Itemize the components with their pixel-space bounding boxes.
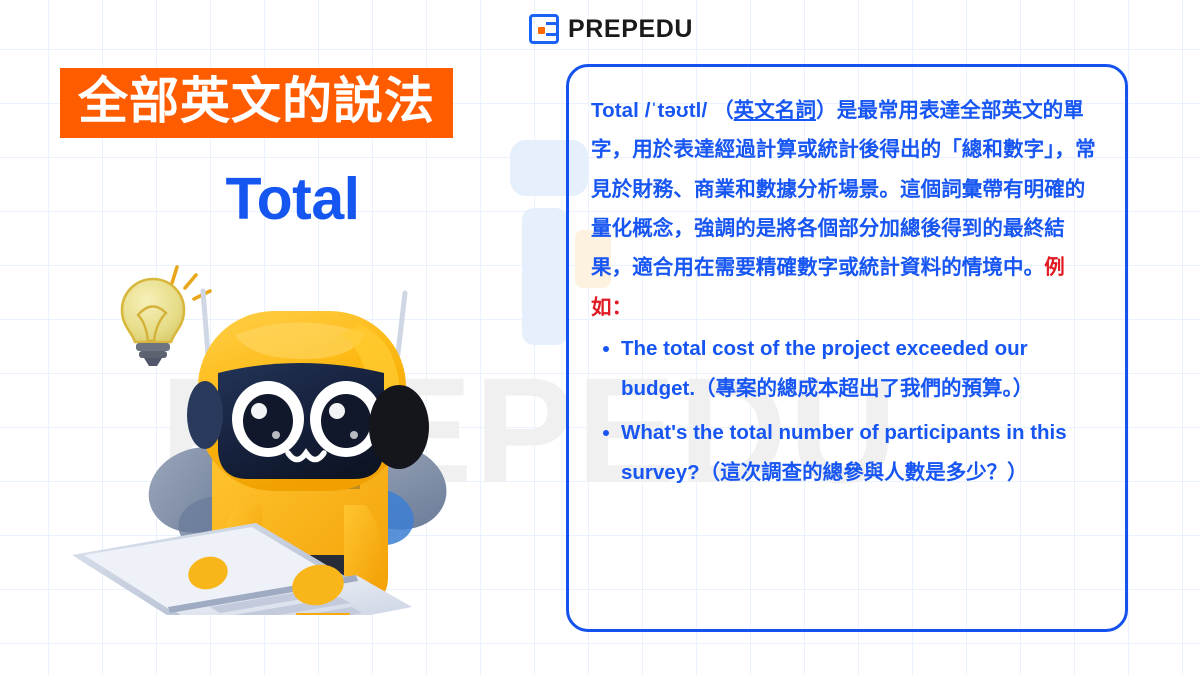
lightbulb-base-2 bbox=[139, 351, 167, 358]
headword: Total bbox=[591, 99, 639, 122]
definition-paragraph: Total /ˈtəʊtl/ （英文名詞）是最常用表達全部英文的單字，用於表達經… bbox=[591, 91, 1103, 327]
robot-with-laptop-mascot bbox=[60, 255, 480, 615]
robot-lower-body bbox=[296, 613, 350, 615]
eye-left-glint-2 bbox=[272, 431, 280, 439]
lightbulb-base-1 bbox=[136, 343, 170, 351]
earpod-left bbox=[187, 381, 223, 449]
eye-right-pupil bbox=[321, 394, 371, 448]
example-list: The total cost of the project exceeded o… bbox=[591, 329, 1103, 493]
list-item: What's the total number of participants … bbox=[621, 413, 1103, 493]
lightbulb-glass bbox=[122, 279, 184, 342]
lightbulb-base-tip bbox=[144, 358, 162, 366]
eye-right-glint bbox=[329, 403, 345, 419]
definition-text: 是最常用表達全部英文的單字，用於表達經過計算或統計後得出的「總和數字」，常見於財… bbox=[591, 99, 1096, 279]
watermark-logo-stem bbox=[522, 208, 568, 345]
part-of-speech-link[interactable]: 英文名詞 bbox=[734, 99, 816, 122]
eye-left-glint bbox=[251, 403, 267, 419]
brand-name: PREPEDU bbox=[568, 15, 693, 44]
definition-card: Total /ˈtəʊtl/ （英文名詞）是最常用表達全部英文的單字，用於表達經… bbox=[566, 64, 1128, 632]
slide-canvas: PREPEDU PREPEDU 全部英文的説法 Total bbox=[0, 0, 1200, 675]
page-title-banner: 全部英文的説法 bbox=[60, 68, 453, 138]
brand-logo[interactable]: PREPEDU bbox=[529, 14, 693, 44]
mascot-svg bbox=[60, 255, 480, 615]
eye-right-glint-2 bbox=[350, 431, 358, 439]
paren-close: ） bbox=[816, 99, 837, 122]
ipa-pronunciation: /ˈtəʊtl/ bbox=[645, 99, 708, 122]
eye-left-pupil bbox=[243, 394, 293, 448]
paren-open: （ bbox=[713, 99, 734, 122]
list-item: The total cost of the project exceeded o… bbox=[621, 329, 1103, 409]
prepedu-logo-icon bbox=[529, 14, 559, 44]
earpod-right bbox=[369, 385, 429, 469]
headword-title: Total bbox=[60, 170, 525, 229]
